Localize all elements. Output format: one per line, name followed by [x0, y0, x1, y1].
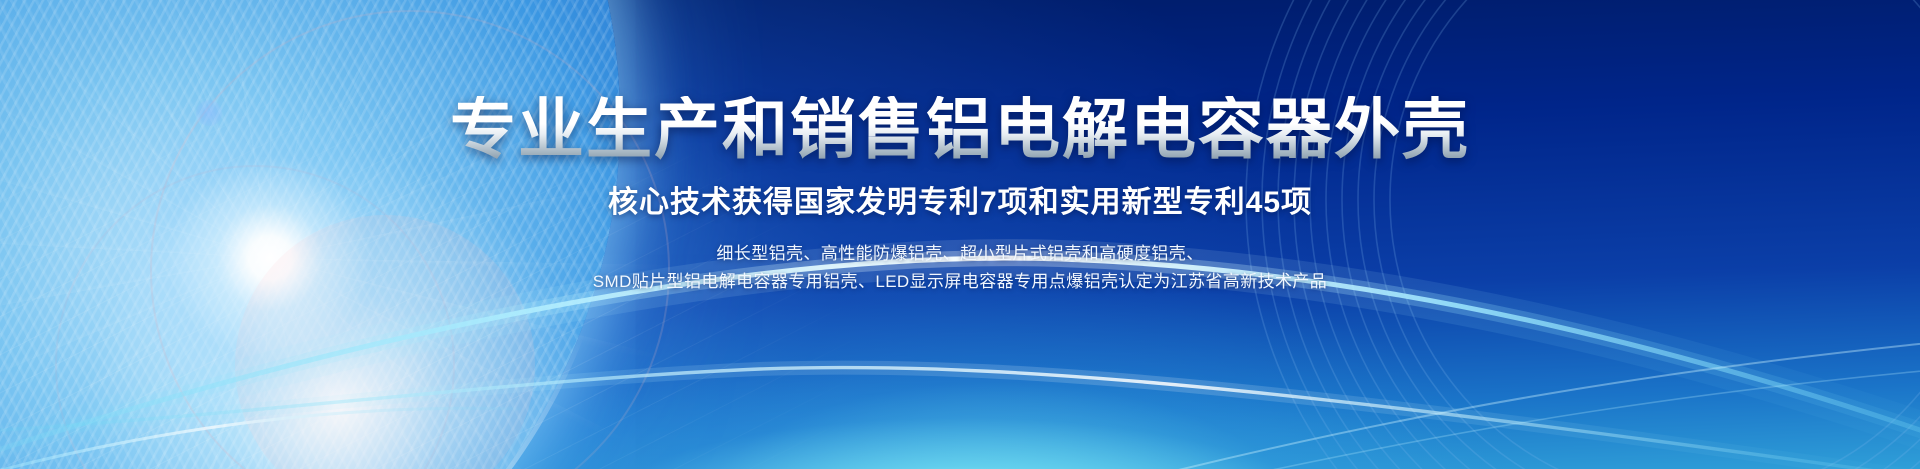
banner-description-line-1: 细长型铝壳、高性能防爆铝壳、超小型片式铝壳和高硬度铝壳、	[593, 240, 1327, 268]
banner-description: 细长型铝壳、高性能防爆铝壳、超小型片式铝壳和高硬度铝壳、 SMD贴片型铝电解电容…	[593, 240, 1327, 296]
hero-banner: 专业生产和销售铝电解电容器外壳 核心技术获得国家发明专利7项和实用新型专利45项…	[0, 0, 1920, 469]
banner-description-line-2: SMD贴片型铝电解电容器专用铝壳、LED显示屏电容器专用点爆铝壳认定为江苏省高新…	[593, 268, 1327, 296]
banner-title: 专业生产和销售铝电解电容器外壳	[450, 96, 1470, 162]
banner-content: 专业生产和销售铝电解电容器外壳 核心技术获得国家发明专利7项和实用新型专利45项…	[0, 0, 1920, 469]
banner-subtitle: 核心技术获得国家发明专利7项和实用新型专利45项	[608, 188, 1312, 218]
